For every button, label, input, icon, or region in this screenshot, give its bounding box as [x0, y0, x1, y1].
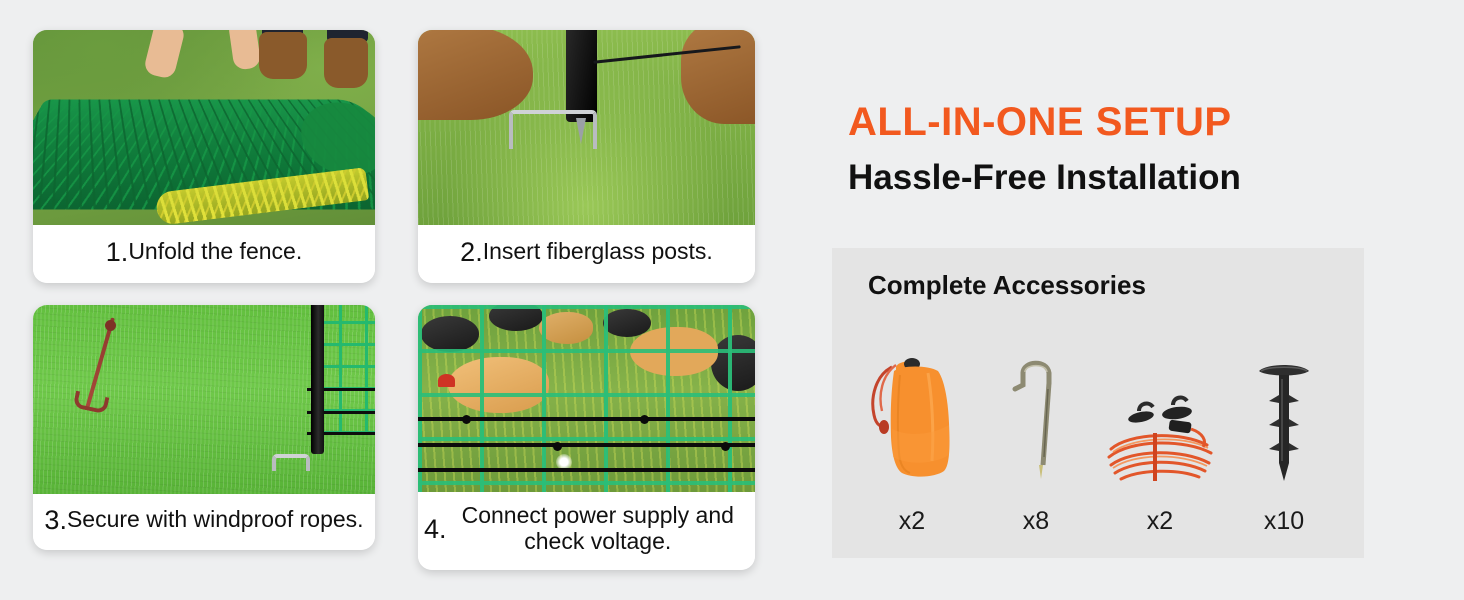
step-2-text: Insert fiberglass posts. — [483, 239, 713, 265]
accessory-item-rope-bundle: x2 — [1100, 343, 1220, 536]
accessory-qty-j-hook-stake: x8 — [1023, 507, 1049, 536]
ground-peg-icon — [1249, 343, 1319, 495]
net-knot — [721, 442, 730, 451]
headline-subtitle: Hassle-Free Installation — [848, 158, 1241, 198]
step-4-number: 4. — [424, 514, 447, 544]
step-card-1: 1. Unfold the fence. — [33, 30, 375, 283]
rope-bundle-icon — [1095, 343, 1225, 495]
drawstring-bag-icon — [862, 343, 962, 495]
accessories-panel: Complete Accessories — [832, 248, 1364, 558]
step-1-photo — [33, 30, 375, 225]
step-2-number: 2. — [460, 237, 483, 267]
step-3-photo — [33, 305, 375, 494]
boot-right — [324, 38, 368, 89]
step-3-text: Secure with windproof ropes. — [67, 507, 364, 533]
step-4-text: Connect power supply and check voltage. — [447, 503, 749, 555]
green-netting — [418, 305, 755, 492]
post-metal-foot — [272, 454, 310, 471]
rope-knot — [105, 320, 116, 331]
step-1-caption: 1. Unfold the fence. — [33, 225, 375, 283]
accessories-row: x2 x8 — [850, 316, 1346, 536]
accessory-item-j-hook-stake: x8 — [976, 343, 1096, 536]
step-4-caption: 4. Connect power supply and check voltag… — [418, 492, 755, 570]
step-card-3: 3. Secure with windproof ropes. — [33, 305, 375, 550]
accessory-qty-carry-bag: x2 — [899, 507, 925, 536]
step-1-number: 1. — [106, 237, 129, 267]
step-2-photo — [418, 30, 755, 225]
boot-left — [418, 30, 533, 120]
accessory-qty-rope-bundle: x2 — [1147, 507, 1173, 536]
boot-left — [259, 32, 307, 79]
infographic-page: 1. Unfold the fence. 2. Insert fiberglas… — [0, 0, 1464, 600]
accessory-item-ground-peg: x10 — [1224, 343, 1344, 536]
step-1-text: Unfold the fence. — [128, 239, 302, 265]
step-4-photo — [418, 305, 755, 492]
post-spike — [576, 118, 586, 144]
electric-wire — [418, 468, 755, 472]
j-hook-stake-icon — [1001, 343, 1071, 495]
fiberglass-post — [566, 30, 596, 122]
headline-title: ALL-IN-ONE SETUP — [848, 100, 1232, 145]
step-3-number: 3. — [44, 505, 67, 535]
step-card-4: 4. Connect power supply and check voltag… — [418, 305, 755, 570]
step-3-caption: 3. Secure with windproof ropes. — [33, 494, 375, 550]
net-post — [311, 305, 324, 454]
step-card-2: 2. Insert fiberglass posts. — [418, 30, 755, 283]
accessory-item-carry-bag: x2 — [852, 343, 972, 536]
electric-wire — [418, 443, 755, 447]
accessories-title: Complete Accessories — [868, 270, 1146, 301]
step-2-caption: 2. Insert fiberglass posts. — [418, 225, 755, 283]
accessory-qty-ground-peg: x10 — [1264, 507, 1304, 536]
net-knot — [553, 442, 562, 451]
